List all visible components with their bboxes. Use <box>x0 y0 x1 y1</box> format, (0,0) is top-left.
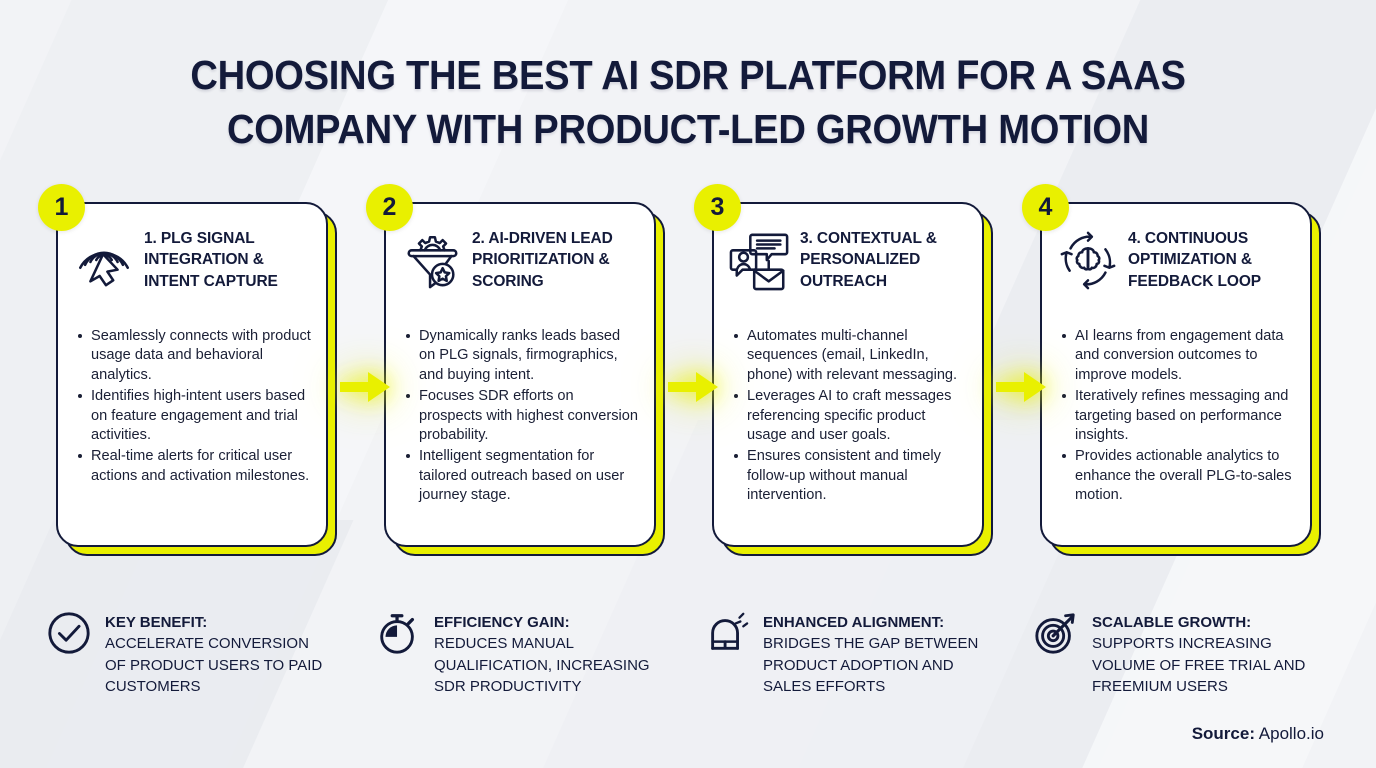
brain-refresh-loop-icon <box>1057 226 1119 294</box>
connector-arrow-3 <box>996 370 1048 404</box>
page-title-line-1: CHOOSING THE BEST AI SDR PLATFORM FOR A … <box>113 48 1262 102</box>
check-circle-icon <box>46 610 92 656</box>
step-title-3: 3. CONTEXTUAL & PERSONALIZED OUTREACH <box>800 226 967 292</box>
step-number-badge-3: 3 <box>694 184 741 231</box>
benefit-text-2: EFFICIENCY GAIN: REDUCES MANUAL QUALIFIC… <box>434 596 656 697</box>
step-bullets-1: Seamlessly connects with product usage d… <box>73 327 311 486</box>
benefits-row: KEY BENEFIT: ACCELERATE CONVERSION OF PR… <box>0 596 1376 697</box>
bullet-item: Seamlessly connects with product usage d… <box>75 327 311 385</box>
bullet-item: Ensures consistent and timely follow-up … <box>731 447 967 505</box>
bullet-item: Dynamically ranks leads based on PLG sig… <box>403 327 639 385</box>
source-line: Source: Apollo.io <box>1192 724 1324 744</box>
page-title-line-2: COMPANY WITH PRODUCT-LED GROWTH MOTION <box>113 102 1262 156</box>
bullet-item: Leverages AI to craft messages referenci… <box>731 387 967 445</box>
benefit-item-2: EFFICIENCY GAIN: REDUCES MANUAL QUALIFIC… <box>375 596 656 697</box>
bullet-item: AI learns from engagement data and conve… <box>1059 327 1295 385</box>
benefit-text-3: ENHANCED ALIGNMENT: BRIDGES THE GAP BETW… <box>763 596 985 697</box>
benefit-label: ENHANCED ALIGNMENT: <box>763 612 985 633</box>
step-card-body-4[interactable]: 4. CONTINUOUS OPTIMIZATION & FEEDBACK LO… <box>1040 202 1312 547</box>
step-bullets-3: Automates multi-channel sequences (email… <box>729 327 967 506</box>
magnet-icon <box>704 610 750 656</box>
source-label: Source: <box>1192 724 1255 743</box>
benefit-body: SUPPORTS INCREASING VOLUME OF FREE TRIAL… <box>1092 633 1314 697</box>
benefit-body: REDUCES MANUAL QUALIFICATION, INCREASING… <box>434 633 656 697</box>
benefit-body: ACCELERATE CONVERSION OF PRODUCT USERS T… <box>105 633 327 697</box>
benefit-item-4: SCALABLE GROWTH: SUPPORTS INCREASING VOL… <box>1033 596 1314 697</box>
step-title-2: 2. AI-DRIVEN LEAD PRIORITIZATION & SCORI… <box>472 226 639 292</box>
benefit-label: EFFICIENCY GAIN: <box>434 612 656 633</box>
step-number-badge-1: 1 <box>38 184 85 231</box>
connector-arrow-2 <box>668 370 720 404</box>
benefit-text-1: KEY BENEFIT: ACCELERATE CONVERSION OF PR… <box>105 596 327 697</box>
target-dart-icon <box>1033 610 1079 656</box>
step-bullets-4: AI learns from engagement data and conve… <box>1057 327 1295 506</box>
bullet-item: Real-time alerts for critical user actio… <box>75 447 311 486</box>
benefit-text-4: SCALABLE GROWTH: SUPPORTS INCREASING VOL… <box>1092 596 1314 697</box>
source-value: Apollo.io <box>1259 724 1324 743</box>
stopwatch-icon <box>375 610 421 656</box>
bullet-item: Automates multi-channel sequences (email… <box>731 327 967 385</box>
bullet-item: Identifies high-intent users based on fe… <box>75 387 311 445</box>
benefit-label: SCALABLE GROWTH: <box>1092 612 1314 633</box>
infographic-page: CHOOSING THE BEST AI SDR PLATFORM FOR A … <box>0 0 1376 768</box>
step-card-2: 2 2. AI-DRIVEN LEAD PRIORITIZATION & <box>384 202 664 547</box>
signal-cursor-icon <box>73 226 135 294</box>
benefit-body: BRIDGES THE GAP BETWEEN PRODUCT ADOPTION… <box>763 633 985 697</box>
step-number-badge-4: 4 <box>1022 184 1069 231</box>
steps-row: 1 1. PLG SIGNAL INTEGRATION & INTENT CAP… <box>0 202 1376 547</box>
chat-person-envelope-icon <box>729 226 791 294</box>
funnel-gear-star-icon <box>401 226 463 294</box>
step-title-4: 4. CONTINUOUS OPTIMIZATION & FEEDBACK LO… <box>1128 226 1295 292</box>
step-card-1: 1 1. PLG SIGNAL INTEGRATION & INTENT CAP… <box>56 202 336 547</box>
connector-arrow-1 <box>340 370 392 404</box>
step-card-3: 3 3. C <box>712 202 992 547</box>
benefit-label: KEY BENEFIT: <box>105 612 327 633</box>
step-card-4: 4 4. CONTINUOUS OPTIM <box>1040 202 1320 547</box>
step-card-body-2[interactable]: 2. AI-DRIVEN LEAD PRIORITIZATION & SCORI… <box>384 202 656 547</box>
step-number-badge-2: 2 <box>366 184 413 231</box>
bullet-item: Provides actionable analytics to enhance… <box>1059 447 1295 505</box>
bullet-item: Intelligent segmentation for tailored ou… <box>403 447 639 505</box>
step-card-body-3[interactable]: 3. CONTEXTUAL & PERSONALIZED OUTREACH Au… <box>712 202 984 547</box>
page-title: CHOOSING THE BEST AI SDR PLATFORM FOR A … <box>48 0 1328 156</box>
step-card-body-1[interactable]: 1. PLG SIGNAL INTEGRATION & INTENT CAPTU… <box>56 202 328 547</box>
benefit-item-3: ENHANCED ALIGNMENT: BRIDGES THE GAP BETW… <box>704 596 985 697</box>
step-title-1: 1. PLG SIGNAL INTEGRATION & INTENT CAPTU… <box>144 226 311 292</box>
benefit-item-1: KEY BENEFIT: ACCELERATE CONVERSION OF PR… <box>46 596 327 697</box>
bullet-item: Focuses SDR efforts on prospects with hi… <box>403 387 639 445</box>
bullet-item: Iteratively refines messaging and target… <box>1059 387 1295 445</box>
step-bullets-2: Dynamically ranks leads based on PLG sig… <box>401 327 639 506</box>
